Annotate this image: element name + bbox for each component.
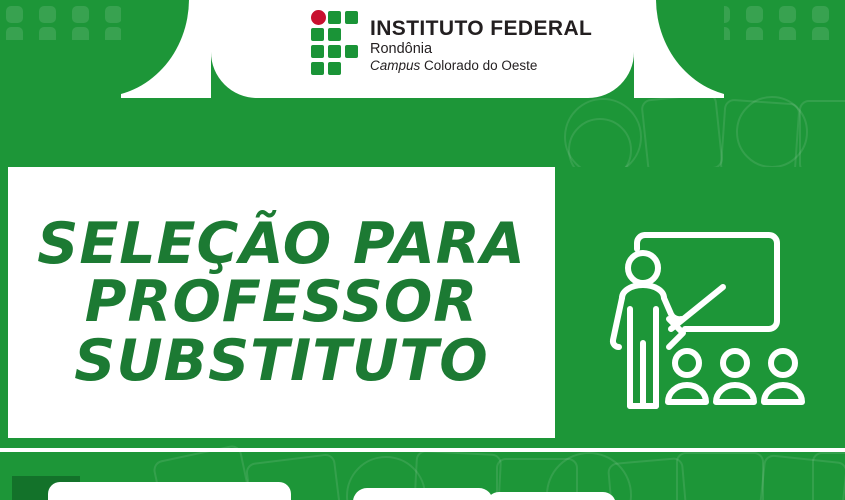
illustration-panel (563, 167, 845, 448)
poster-canvas: INSTITUTO FEDERAL Rondônia Campus Colora… (0, 0, 845, 500)
title-line-3: SUBSTITUTO (18, 332, 545, 391)
logo-text-block: INSTITUTO FEDERAL Rondônia Campus Colora… (370, 18, 592, 72)
logo-campus-name: Colorado do Oeste (424, 58, 537, 73)
logo-campus-prefix: Campus (370, 58, 420, 73)
bottom-band (0, 448, 845, 500)
logo-title: INSTITUTO FEDERAL (370, 18, 592, 39)
title-block: SELEÇÃO PARA PROFESSOR SUBSTITUTO (8, 214, 555, 390)
title-line-1: SELEÇÃO PARA (18, 214, 545, 273)
logo-state: Rondônia (370, 42, 592, 57)
teacher-at-blackboard-with-students-icon (563, 167, 845, 448)
bottom-sheet-3 (486, 492, 616, 500)
title-line-2: PROFESSOR (18, 273, 545, 332)
bottom-sheet-1 (48, 482, 291, 500)
logo-campus: Campus Colorado do Oeste (370, 59, 592, 73)
institute-logo: INSTITUTO FEDERAL Rondônia Campus Colora… (311, 10, 592, 80)
bottom-sheet-2 (353, 488, 493, 500)
header-plate-right-wing (634, 0, 724, 98)
title-card: SELEÇÃO PARA PROFESSOR SUBSTITUTO (8, 167, 555, 438)
header-plate-left-wing (121, 0, 211, 98)
instituto-federal-grid-logo-icon (311, 10, 358, 80)
